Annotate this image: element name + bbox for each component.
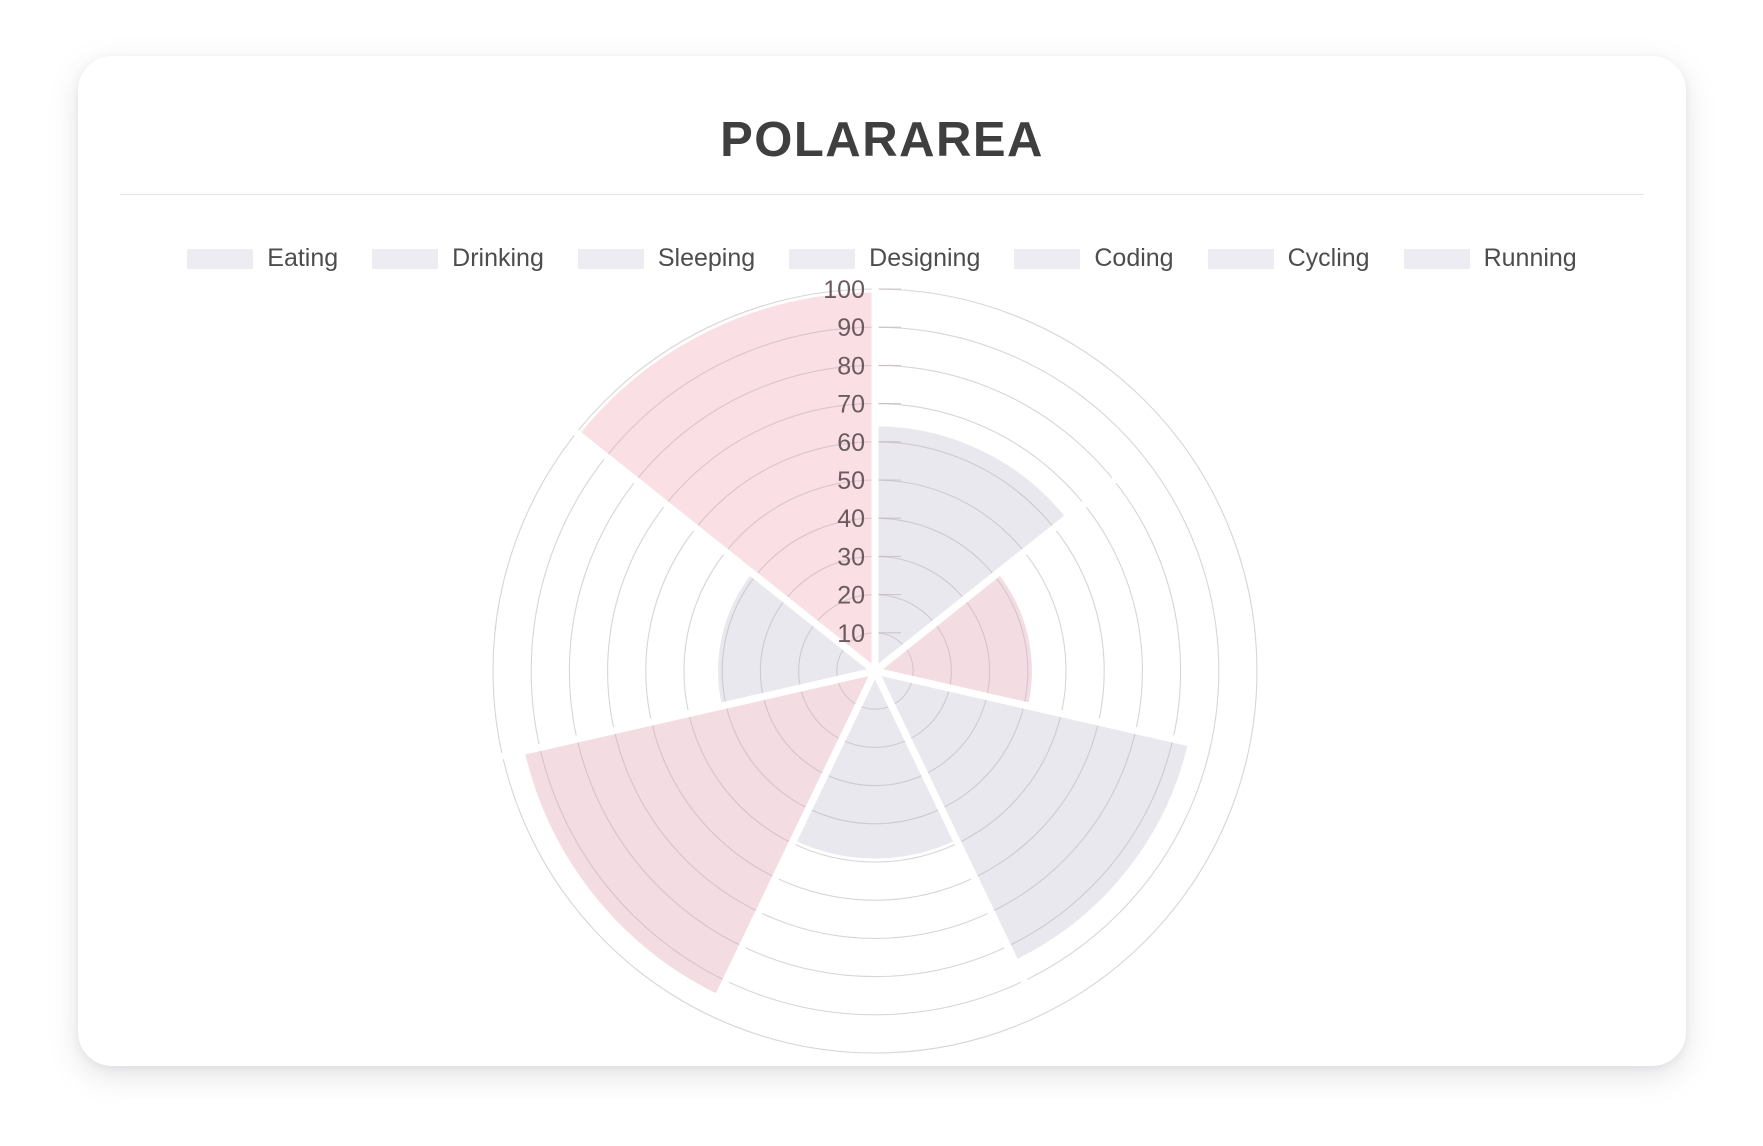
legend-swatch-icon bbox=[578, 249, 644, 269]
sector-divider bbox=[875, 671, 1192, 743]
gridline-ring-40 bbox=[722, 518, 1028, 824]
radial-tick-label-30: 30 bbox=[837, 543, 865, 571]
sector-divider bbox=[576, 433, 875, 671]
sector-divider bbox=[875, 516, 1069, 671]
sector-divider bbox=[875, 469, 1129, 671]
radial-tick-label-60: 60 bbox=[837, 429, 865, 457]
legend-swatch-icon bbox=[789, 249, 855, 269]
sector-divider bbox=[521, 671, 875, 752]
radial-tick-label-40: 40 bbox=[837, 505, 865, 533]
legend-swatch-icon bbox=[1208, 249, 1274, 269]
sector-divider bbox=[576, 433, 875, 671]
radial-tick-label-50: 50 bbox=[837, 467, 865, 495]
chart-card: POLARAREA EatingDrinkingSleepingDesignin… bbox=[78, 56, 1686, 1066]
radial-tick-labels: 102030405060708090100 bbox=[823, 276, 901, 648]
sector-divider bbox=[718, 671, 875, 998]
legend-swatch-icon bbox=[187, 249, 253, 269]
polar-area-svg: 102030405060708090100 bbox=[78, 56, 1686, 1066]
sector-divider bbox=[503, 671, 875, 756]
gridline-ring-50 bbox=[684, 480, 1066, 862]
sector-dividers bbox=[503, 289, 1192, 998]
gridline-ring-90 bbox=[531, 327, 1219, 1015]
legend-item-label: Cycling bbox=[1288, 244, 1370, 273]
chart-legend: EatingDrinkingSleepingDesigningCodingCyc… bbox=[78, 244, 1686, 273]
legend-item-designing[interactable]: Designing bbox=[789, 244, 980, 273]
legend-item-cycling[interactable]: Cycling bbox=[1208, 244, 1370, 273]
radial-tick-label-80: 80 bbox=[837, 352, 865, 380]
legend-item-label: Sleeping bbox=[658, 244, 755, 273]
polar-sector-running[interactable] bbox=[576, 289, 875, 671]
page-root: POLARAREA EatingDrinkingSleepingDesignin… bbox=[0, 0, 1763, 1146]
radial-tick-label-20: 20 bbox=[837, 582, 865, 610]
gridline-ring-20 bbox=[799, 595, 952, 748]
gridline-ring-100 bbox=[493, 289, 1257, 1053]
legend-item-label: Running bbox=[1484, 244, 1577, 273]
polar-chart-plot: 102030405060708090100 bbox=[78, 56, 1686, 1066]
sector-divider bbox=[875, 671, 1032, 998]
legend-swatch-icon bbox=[1014, 249, 1080, 269]
polar-sector-sleeping[interactable] bbox=[875, 671, 1192, 964]
gridline-ring-10 bbox=[837, 633, 913, 709]
legend-item-label: Coding bbox=[1094, 244, 1173, 273]
legend-item-label: Eating bbox=[267, 244, 338, 273]
polar-sector-drinking[interactable] bbox=[875, 571, 1035, 707]
legend-item-sleeping[interactable]: Sleeping bbox=[578, 244, 755, 273]
gridline-ring-60 bbox=[646, 442, 1104, 900]
gridline-ring-30 bbox=[760, 556, 989, 785]
radial-gridlines bbox=[493, 289, 1257, 1053]
legend-item-running[interactable]: Running bbox=[1404, 244, 1577, 273]
legend-item-label: Designing bbox=[869, 244, 980, 273]
sector-divider bbox=[718, 671, 875, 998]
gridline-ring-80 bbox=[569, 365, 1180, 976]
gridline-ring-70 bbox=[608, 404, 1143, 939]
polar-sectors bbox=[521, 289, 1191, 998]
sector-divider bbox=[875, 671, 1192, 743]
page-title: POLARAREA bbox=[78, 112, 1686, 168]
radial-tick-label-70: 70 bbox=[837, 391, 865, 419]
legend-swatch-icon bbox=[1404, 249, 1470, 269]
radial-tick-label-10: 10 bbox=[837, 620, 865, 648]
polar-sector-designing[interactable] bbox=[792, 671, 958, 862]
polar-sector-cycling[interactable] bbox=[715, 571, 875, 707]
legend-item-coding[interactable]: Coding bbox=[1014, 244, 1173, 273]
title-divider bbox=[120, 194, 1644, 195]
radial-tick-label-100: 100 bbox=[823, 276, 865, 304]
radial-tick-label-90: 90 bbox=[837, 314, 865, 342]
legend-item-eating[interactable]: Eating bbox=[187, 244, 338, 273]
polar-sector-coding[interactable] bbox=[521, 671, 875, 998]
polar-sector-eating[interactable] bbox=[875, 423, 1069, 671]
legend-swatch-icon bbox=[372, 249, 438, 269]
sector-divider bbox=[875, 671, 1016, 964]
legend-item-label: Drinking bbox=[452, 244, 544, 273]
legend-item-drinking[interactable]: Drinking bbox=[372, 244, 544, 273]
